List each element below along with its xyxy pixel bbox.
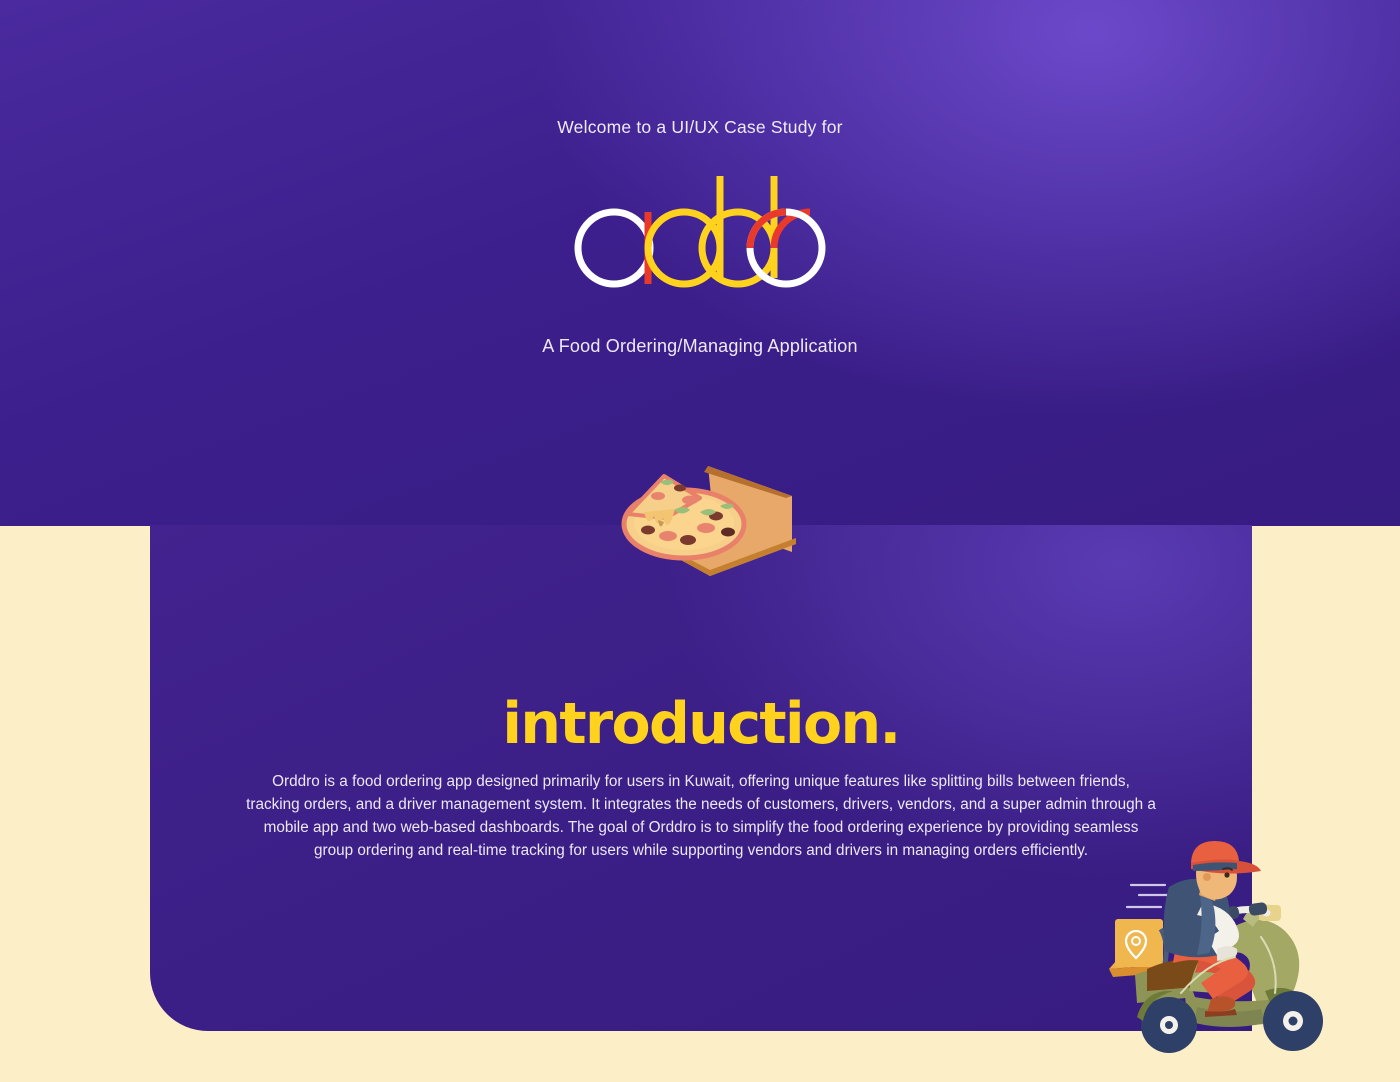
scooter-illustration (1093, 841, 1338, 1061)
introduction-body-text: Orddro is a food ordering app designed p… (245, 770, 1157, 862)
hero-section: Welcome to a UI/UX Case Study for A Food… (0, 0, 1400, 526)
hero-subtitle: A Food Ordering/Managing Application (0, 336, 1400, 357)
introduction-heading: introduction. (150, 691, 1252, 757)
hero-welcome-text: Welcome to a UI/UX Case Study for (0, 117, 1400, 138)
pizza-in-box-icon (596, 452, 804, 584)
pizza-illustration (596, 452, 804, 589)
orddro-logo-icon (570, 168, 830, 290)
introduction-card: introduction. Orddro is a food ordering … (150, 525, 1252, 1031)
brand-logo (0, 168, 1400, 290)
delivery-scooter-icon (1093, 841, 1338, 1056)
